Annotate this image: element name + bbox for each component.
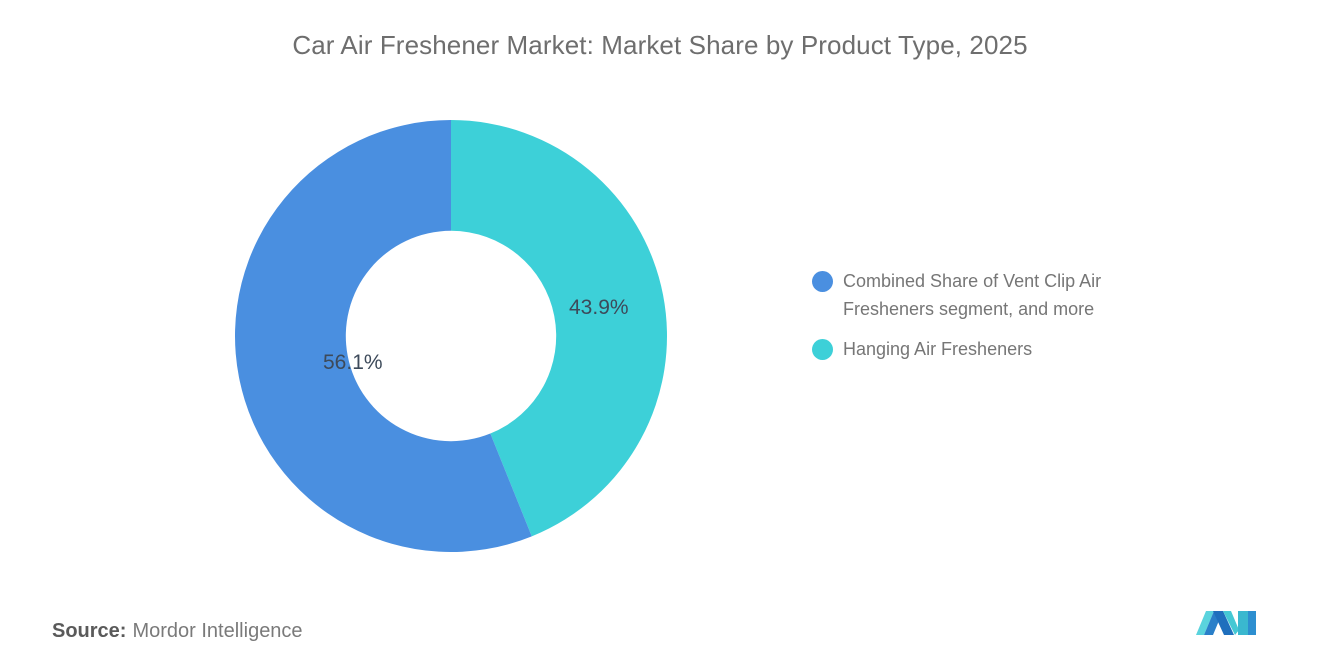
donut-chart: 56.1% 43.9%	[235, 120, 667, 552]
mordor-intelligence-logo-icon	[1194, 603, 1262, 643]
legend-swatch-icon-teal	[812, 339, 833, 360]
slice-label-blue: 56.1%	[323, 351, 383, 374]
legend-item-hanging-air-fresheners[interactable]: Hanging Air Fresheners	[812, 336, 1212, 364]
legend-item-label: Hanging Air Fresheners	[843, 336, 1032, 364]
chart-legend: Combined Share of Vent Clip Air Freshene…	[812, 268, 1212, 376]
source-label: Source:	[52, 620, 126, 642]
donut-chart-svg: 56.1% 43.9%	[235, 120, 667, 552]
legend-item-combined-share[interactable]: Combined Share of Vent Clip Air Freshene…	[812, 268, 1212, 324]
page-title: Car Air Freshener Market: Market Share b…	[0, 30, 1320, 61]
legend-item-label: Combined Share of Vent Clip Air Freshene…	[843, 268, 1183, 324]
source-note: Source:Mordor Intelligence	[52, 620, 303, 643]
slice-label-teal: 43.9%	[569, 296, 629, 319]
legend-swatch-icon-blue	[812, 271, 833, 292]
source-value: Mordor Intelligence	[132, 620, 302, 642]
